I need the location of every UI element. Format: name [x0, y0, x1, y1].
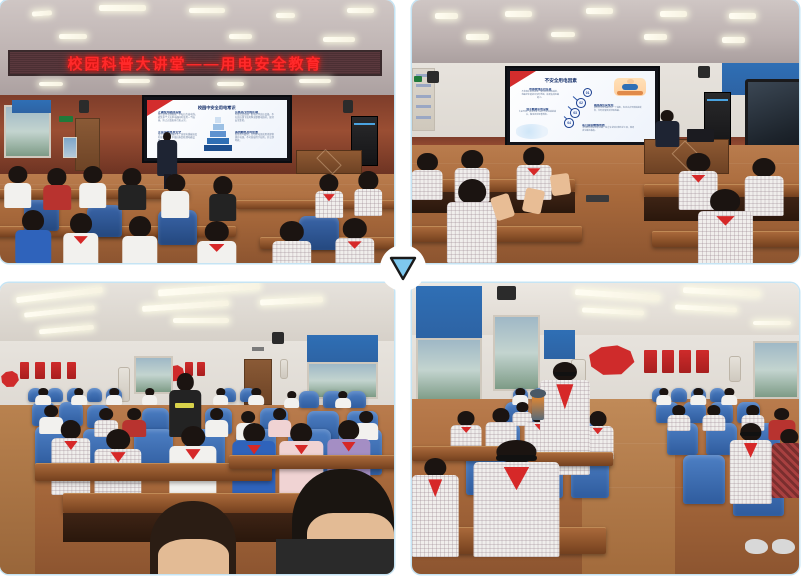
slide-title: 校园中安全用电常识	[198, 105, 236, 111]
wall-red-panel	[696, 350, 708, 373]
student	[142, 388, 158, 405]
wall-speaker	[497, 286, 516, 301]
glasses-icon	[496, 455, 537, 461]
student	[4, 166, 32, 208]
student	[71, 388, 87, 405]
floor-outlet	[586, 195, 609, 203]
ceiling-light	[729, 13, 756, 19]
ceiling-light	[466, 34, 489, 40]
glasses-icon	[740, 432, 760, 435]
window	[753, 341, 799, 399]
ceiling-light	[31, 10, 51, 17]
step-node: 04	[564, 118, 574, 128]
shoe	[772, 539, 795, 554]
slide-block-body: 发现有人触电，先切断电源或用绝缘物挑开电线，不可直接用手拉拽，并立即呼救。	[235, 134, 276, 143]
window	[416, 338, 482, 402]
exit-sign-icon	[59, 116, 73, 122]
step-chain: 01 02 03 04	[562, 86, 600, 127]
ceiling-light	[323, 37, 355, 42]
ac-unit	[280, 359, 288, 379]
ceiling-light	[660, 11, 687, 17]
ceiling-light	[753, 321, 792, 326]
student	[43, 168, 71, 210]
student-front	[729, 423, 772, 504]
window-blind	[12, 100, 51, 113]
slide-block-body: 规范使用电源插座，不私拉乱接电线，避免多个大功率电器同时使用一个插座，防止过载发…	[158, 114, 197, 123]
exit-sign-icon	[414, 76, 422, 81]
scene-lecture-hall-banner: 校园科普大讲堂——用电安全教育 校园中安全用电常识	[0, 0, 394, 263]
presenter	[656, 110, 679, 147]
ceiling-light	[299, 79, 331, 83]
led-banner-text: 校园科普大讲堂——用电安全教育	[68, 53, 323, 74]
glasses-icon	[554, 372, 576, 377]
ceiling-light	[435, 13, 458, 19]
ceiling-light	[551, 32, 574, 38]
slide-block: 插座超负荷使用 多台大功率电器共用一个插座，电流过大导致插座发热，长时间使用会烧…	[594, 104, 643, 117]
student	[248, 388, 264, 405]
slide-block-body: 不靠近变压器、配电房等高压设备，不在高压线下放风筝或攀爬电线杆，保持安全距离。	[235, 114, 276, 123]
auditorium-seat	[683, 455, 726, 504]
photo-top-left[interactable]: 校园科普大讲堂——用电安全教育 校园中安全用电常识	[0, 0, 394, 263]
student	[335, 391, 351, 408]
wall-red-panel	[662, 350, 674, 373]
photo-bottom-left[interactable]	[0, 283, 394, 574]
wall-speaker	[698, 66, 710, 78]
wall-red-panel	[35, 362, 44, 379]
wall-red-panel	[67, 362, 76, 379]
ceiling-light	[189, 8, 224, 13]
scene-students-raising-hands: 不安全用电因素 电源软线乱拉乱接 不按规定私自接线，使用劣质电线插排，线路老化破…	[412, 0, 799, 263]
window-blind	[544, 330, 575, 359]
wall-red-panel	[20, 362, 29, 379]
student	[213, 388, 229, 405]
desk-row	[412, 226, 582, 242]
slide-block: 遇到触电及时处置 发现有人触电，先切断电源或用绝缘物挑开电线，不可直接用手拉拽，…	[235, 131, 276, 146]
play-triangle-overlay[interactable]	[380, 245, 426, 291]
ceiling-light	[118, 79, 150, 83]
wall-speaker	[343, 100, 353, 113]
slide-block: 正确使用插座设备 规范使用电源插座，不私拉乱接电线，避免多个大功率电器同时使用一…	[158, 111, 197, 126]
wall-poster	[63, 137, 77, 158]
play-triangle-icon[interactable]	[389, 255, 417, 281]
student	[722, 388, 737, 405]
foreground-face	[158, 539, 229, 574]
wall-speaker	[79, 100, 89, 113]
step-node: 01	[583, 88, 593, 98]
student	[691, 388, 706, 405]
ceiling-light	[99, 5, 146, 11]
wall-board-line	[416, 95, 431, 98]
ceiling-light	[722, 37, 745, 43]
student	[197, 221, 236, 263]
student	[209, 176, 237, 221]
student	[667, 405, 690, 431]
ceiling-light	[586, 8, 613, 14]
student	[106, 388, 122, 405]
student	[335, 218, 374, 263]
student	[698, 189, 752, 263]
shoe	[745, 539, 768, 554]
student	[35, 388, 51, 405]
wall-board-line	[416, 84, 431, 87]
student	[315, 174, 343, 219]
student	[355, 171, 383, 216]
projector-screen: 不安全用电因素 电源软线乱拉乱接 不按规定私自接线，使用劣质电线插排，线路老化破…	[505, 66, 660, 148]
ceiling-light	[347, 8, 375, 13]
scene-seated-students	[0, 283, 394, 574]
foreground-shirt	[276, 539, 394, 574]
wall-board-line	[416, 105, 431, 108]
student	[118, 168, 146, 210]
window-blind	[307, 335, 378, 364]
student-front	[772, 429, 799, 499]
slide-illustration	[614, 78, 646, 97]
slide-corner-accent	[510, 71, 536, 87]
slide-block-body: 不按规定私自接线，使用劣质电线插排，线路老化破损未及时更换，极易造成短路起火。	[521, 91, 559, 99]
student-foreground	[474, 440, 559, 556]
step-node: 03	[570, 108, 580, 118]
student	[702, 405, 725, 431]
ceiling-light	[173, 318, 228, 323]
student	[412, 153, 443, 200]
slide-illustration	[516, 124, 548, 140]
student	[284, 391, 300, 408]
slide-block-body: 水是导体，潮湿环境下操作开关或插拔插头，触电风险显著增加。	[519, 111, 557, 116]
student-foreground	[412, 458, 458, 557]
pyramid-diagram	[203, 117, 234, 144]
slide-block: 远离高压危险区域 不靠近变压器、配电房等高压设备，不在高压线下放风筝或攀爬电线杆…	[235, 111, 276, 126]
step-node: 02	[576, 98, 586, 108]
side-aisle	[0, 405, 35, 574]
student	[162, 174, 190, 219]
side-door	[75, 118, 101, 171]
photo-top-right[interactable]: 不安全用电因素 电源软线乱拉乱接 不按规定私自接线，使用劣质电线插排，线路老化破…	[412, 0, 799, 263]
student-raising-hand	[447, 179, 497, 263]
slide-block: 电源软线乱拉乱接 不按规定私自接线，使用劣质电线插排，线路老化破损未及时更换，极…	[521, 88, 559, 101]
podium	[296, 150, 363, 174]
slide-block: 湿手触摸带电设备 水是导体，潮湿环境下操作开关或插拔插头，触电风险显著增加。	[519, 108, 557, 121]
microphone-head	[530, 389, 545, 398]
ceiling-light	[505, 11, 532, 17]
student	[122, 216, 157, 263]
student	[656, 388, 671, 405]
window-blind	[416, 286, 482, 338]
wall-sign	[252, 347, 264, 351]
student	[63, 213, 98, 263]
ceiling-light	[229, 34, 253, 39]
slide-block-body: 多台大功率电器共用一个插座，电流过大导致插座发热，长时间使用会烧毁线路。	[594, 107, 643, 112]
wall-red-panel	[51, 362, 60, 379]
led-banner: 校园科普大讲堂——用电安全教育	[8, 50, 382, 76]
student-front	[51, 420, 90, 496]
wall-speaker	[272, 332, 284, 344]
wall-red-panel	[679, 350, 691, 373]
photo-collage-grid: 校园科普大讲堂——用电安全教育 校园中安全用电常识	[0, 0, 805, 579]
student	[16, 210, 51, 263]
scene-student-with-microphone	[412, 283, 799, 574]
auditorium-seat	[671, 388, 686, 403]
auditorium-seat	[87, 388, 103, 403]
wall-red-panel	[644, 350, 656, 373]
window	[493, 315, 539, 391]
photo-bottom-right[interactable]	[412, 283, 799, 574]
ceiling-light	[59, 34, 87, 39]
ceiling-light	[217, 82, 245, 86]
student	[79, 166, 107, 208]
wall-board-line	[416, 116, 431, 119]
shirt-print	[175, 403, 194, 408]
raised-hand	[550, 172, 572, 196]
slide-title: 不安全用电因素	[545, 78, 577, 84]
ac-unit	[729, 356, 741, 382]
ceiling-light	[644, 34, 667, 40]
auditorium-seat	[299, 391, 319, 408]
wall-speaker	[427, 71, 439, 83]
student	[272, 221, 311, 263]
laptop	[687, 129, 714, 142]
ceiling-light	[276, 13, 296, 18]
desk-row	[229, 455, 394, 470]
slide-content: 不安全用电因素 电源软线乱拉乱接 不按规定私自接线，使用劣质电线插排，线路老化破…	[510, 71, 655, 143]
ceiling-light	[39, 82, 63, 86]
